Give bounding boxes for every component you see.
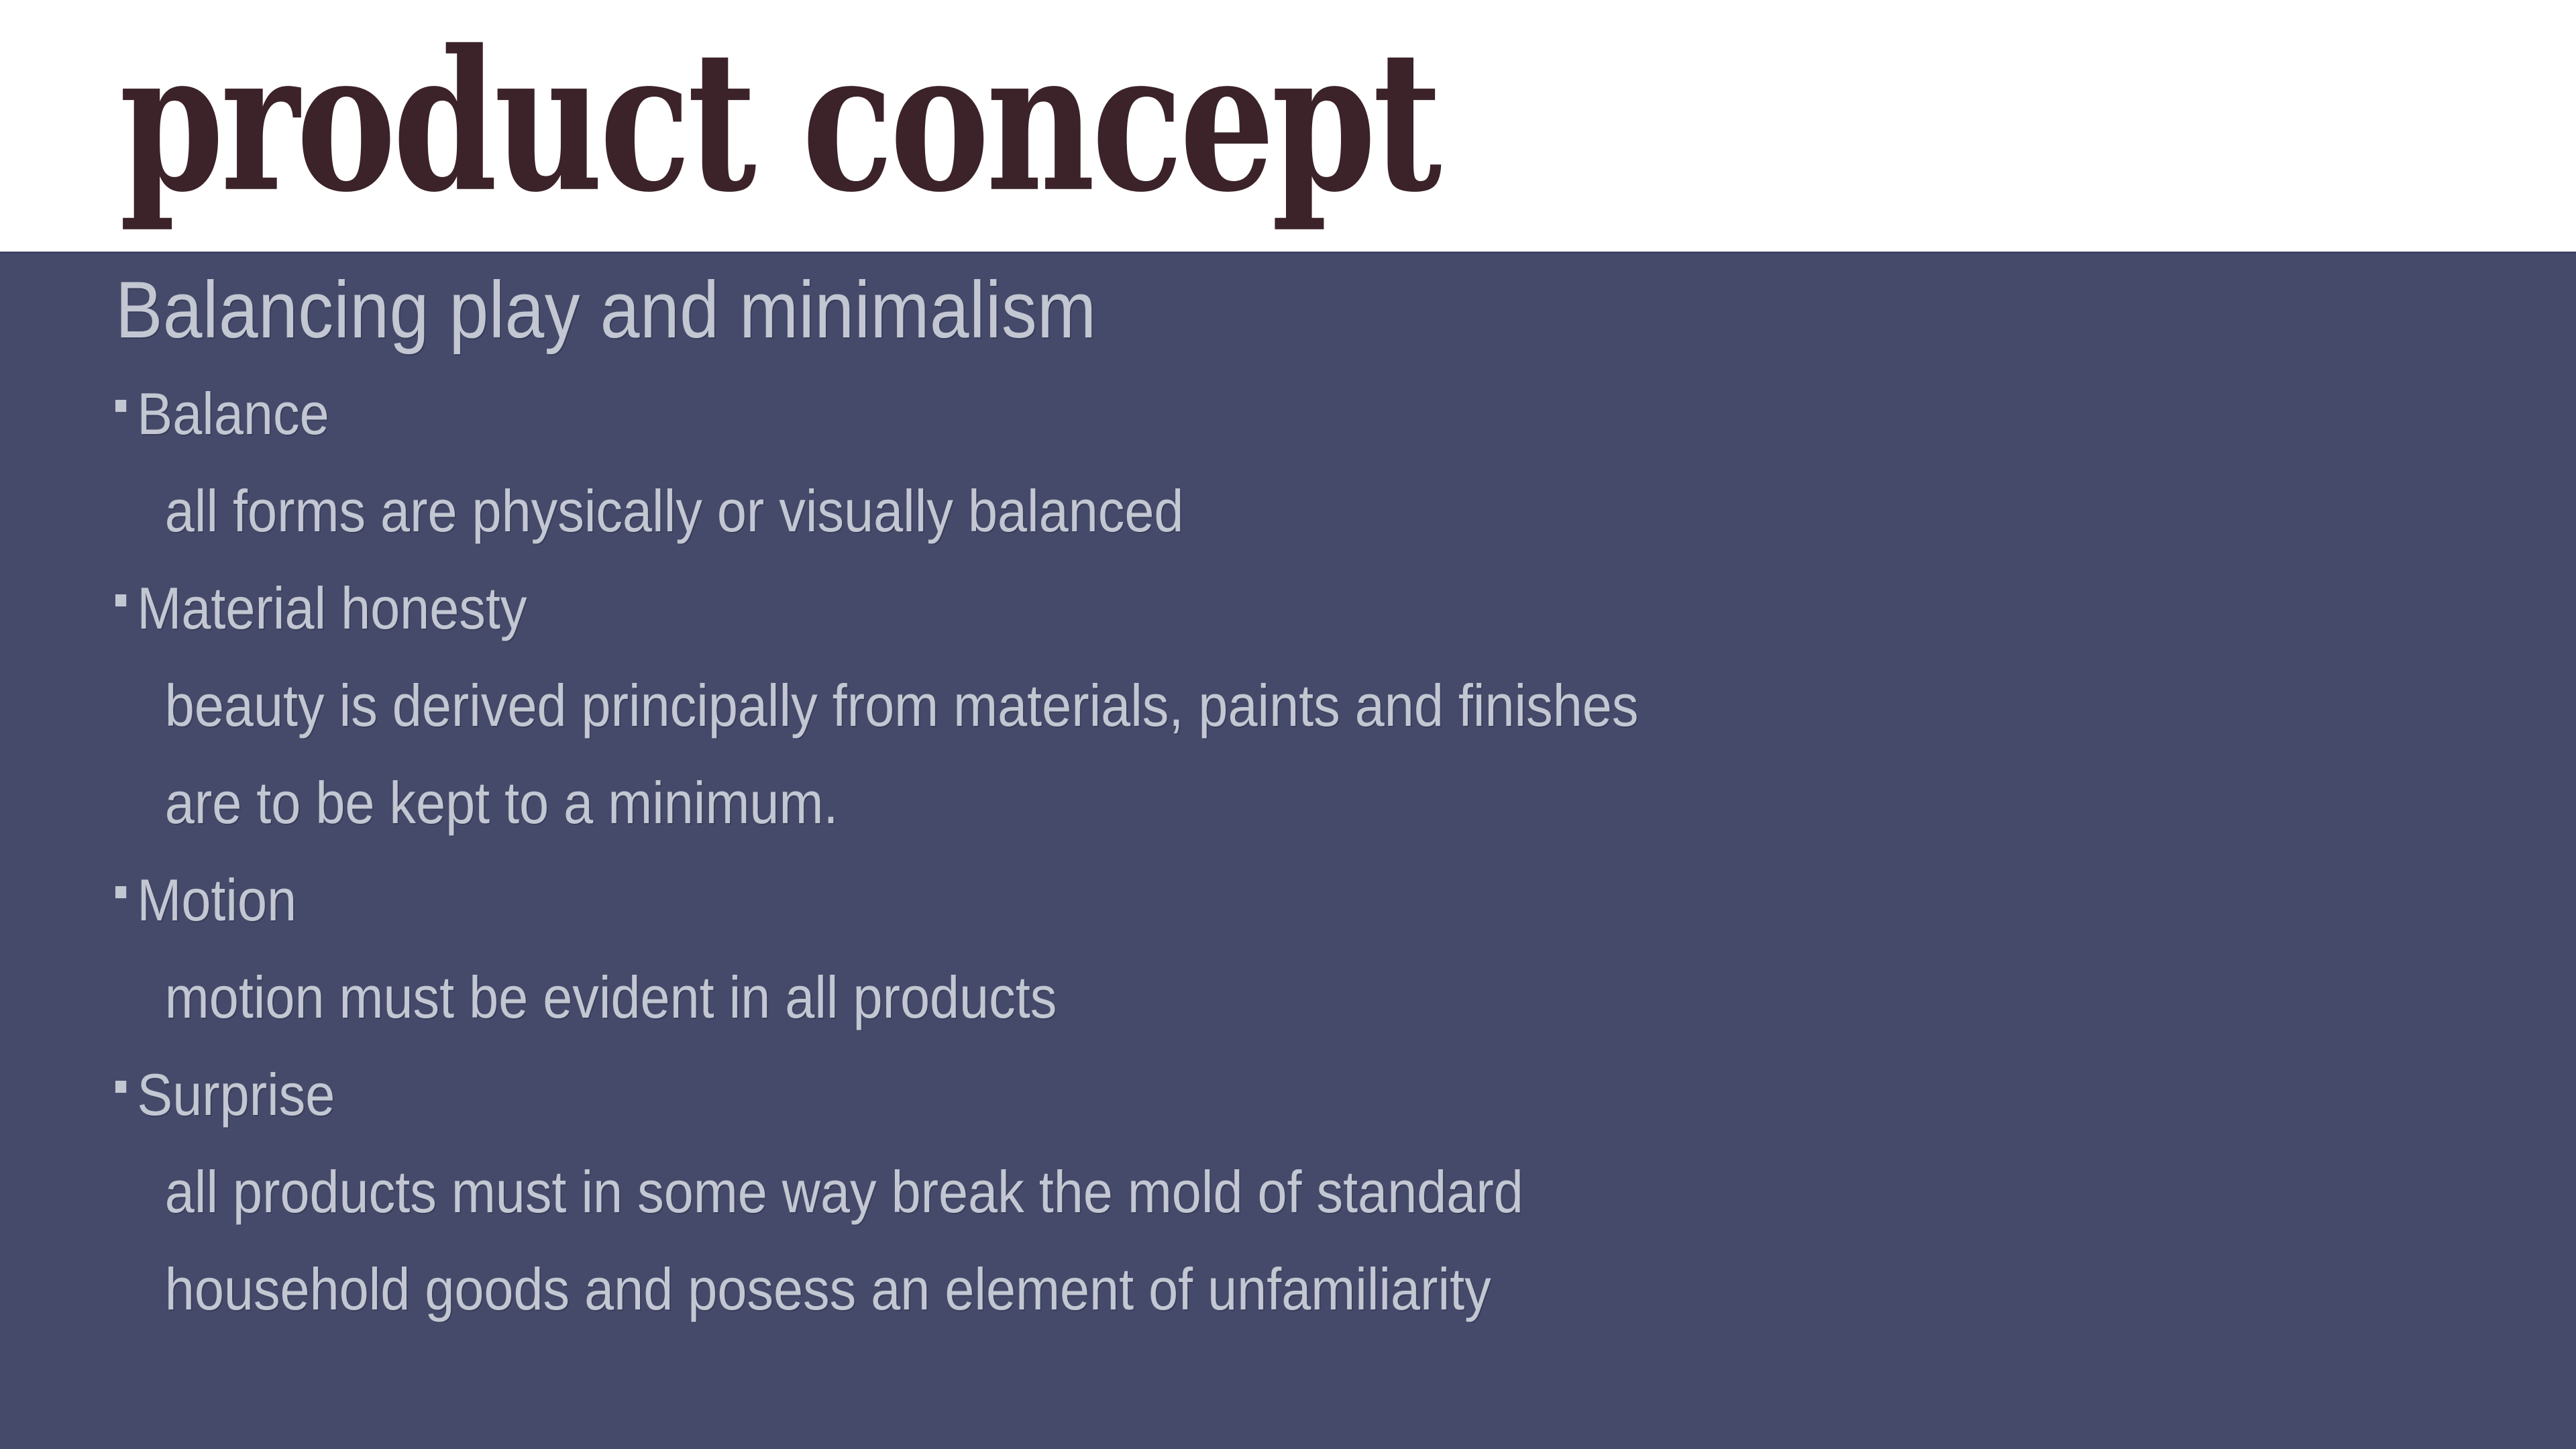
slide-subtitle: Balancing play and minimalism	[115, 265, 2257, 356]
bullet-heading: Motion	[115, 851, 2306, 949]
page-title: product concept	[119, 25, 1438, 219]
bullet-heading-label: Material honesty	[137, 575, 527, 641]
bullet-heading: Balance	[115, 365, 2306, 462]
bullet-heading: Material honesty	[115, 559, 2306, 657]
bullet-group-material-honesty: Material honesty beauty is derived princ…	[115, 559, 2549, 851]
bullet-group-surprise: Surprise all products must in some way b…	[115, 1046, 2549, 1338]
presentation-slide: product concept Balancing play and minim…	[0, 0, 2576, 1449]
square-bullet-icon	[115, 400, 126, 412]
slide-header-band: product concept	[0, 0, 2576, 252]
bullet-heading-label: Motion	[137, 867, 297, 933]
slide-body-panel: Balancing play and minimalism Balance al…	[0, 252, 2576, 1449]
bullet-heading: Surprise	[115, 1046, 2306, 1143]
bullet-group-balance: Balance all forms are physically or visu…	[115, 365, 2549, 559]
bullet-detail-line: motion must be evident in all products	[115, 949, 2306, 1046]
bullet-detail-line: all products must in some way break the …	[115, 1143, 2306, 1240]
square-bullet-icon	[115, 886, 126, 898]
bullet-detail-line: are to be kept to a minimum.	[115, 754, 2306, 851]
slide-body-content: Balancing play and minimalism Balance al…	[115, 265, 2549, 1338]
square-bullet-icon	[115, 1081, 126, 1093]
square-bullet-icon	[115, 594, 126, 606]
bullet-group-motion: Motion motion must be evident in all pro…	[115, 851, 2549, 1046]
bullet-detail-line: beauty is derived principally from mater…	[115, 657, 2306, 754]
bullet-heading-label: Surprise	[137, 1061, 335, 1128]
bullet-detail-line: household goods and posess an element of…	[115, 1240, 2306, 1338]
bullet-detail-line: all forms are physically or visually bal…	[115, 462, 2306, 559]
bullet-heading-label: Balance	[137, 380, 329, 447]
bullet-list: Balance all forms are physically or visu…	[115, 365, 2549, 1338]
